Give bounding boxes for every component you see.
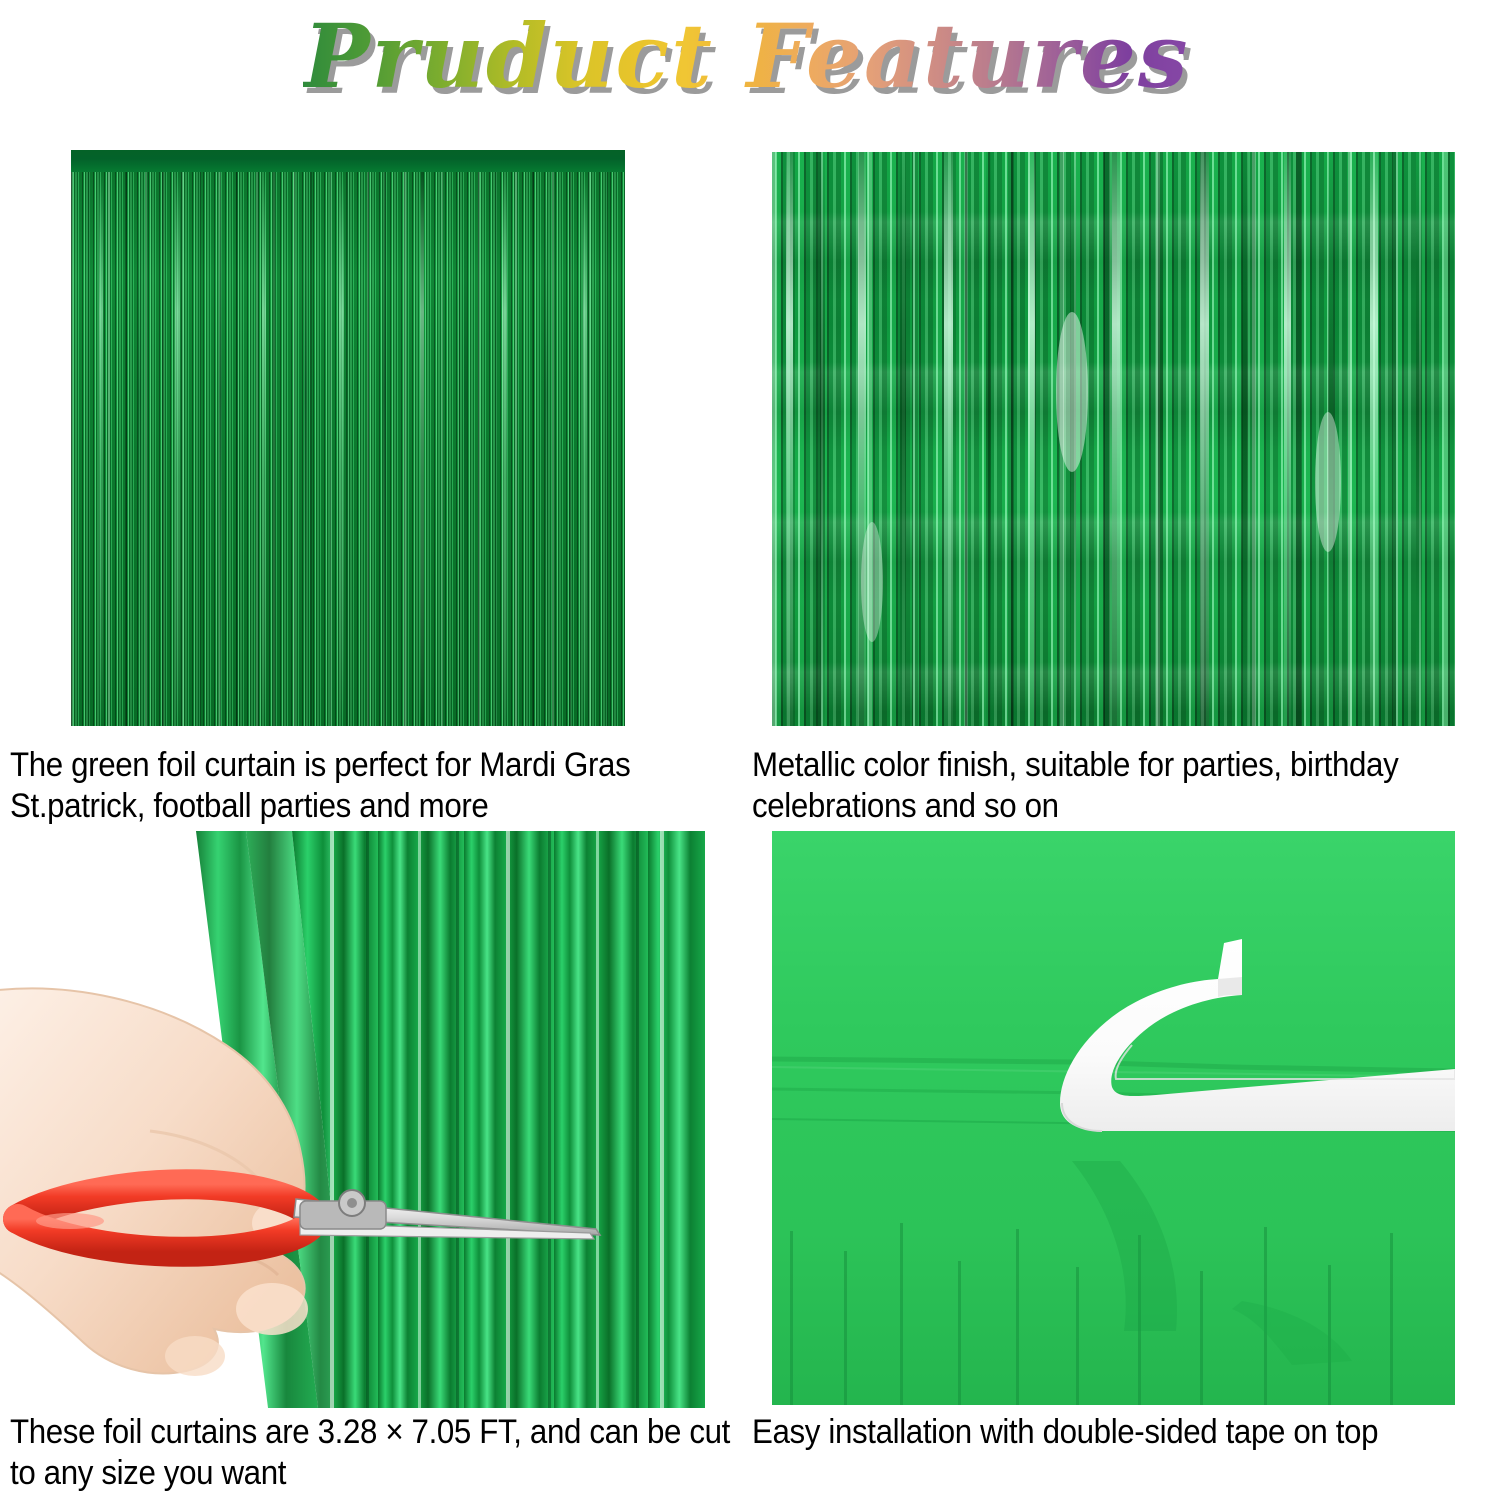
feature-caption-easy-installation: Easy installation with double-sided tape… xyxy=(752,1412,1493,1453)
tape-illustration xyxy=(772,831,1455,1405)
feature-image-cuttable-size xyxy=(0,831,705,1408)
foil-highlight-overlay xyxy=(772,152,1455,726)
tape-photo xyxy=(772,831,1455,1405)
feature-caption-metallic-finish: Metallic color finish, suitable for part… xyxy=(752,745,1493,827)
feature-image-mardi-gras xyxy=(71,150,625,726)
feature-caption-cuttable-size: These foil curtains are 3.28 × 7.05 FT, … xyxy=(10,1412,746,1494)
feature-caption-mardi-gras: The green foil curtain is perfect for Ma… xyxy=(10,745,746,827)
scissors-cut-photo xyxy=(0,831,705,1408)
feature-image-metallic-finish xyxy=(772,152,1455,726)
foil-highlight-overlay xyxy=(71,150,625,726)
cut-illustration xyxy=(0,831,705,1408)
page-title: Pruduct Features Pruduct Features xyxy=(0,6,1493,110)
page-title-text: Pruduct Features Pruduct Features xyxy=(303,6,1189,106)
page-title-gradient: Pruduct Features xyxy=(303,4,1189,108)
feature-image-easy-installation xyxy=(772,831,1455,1405)
